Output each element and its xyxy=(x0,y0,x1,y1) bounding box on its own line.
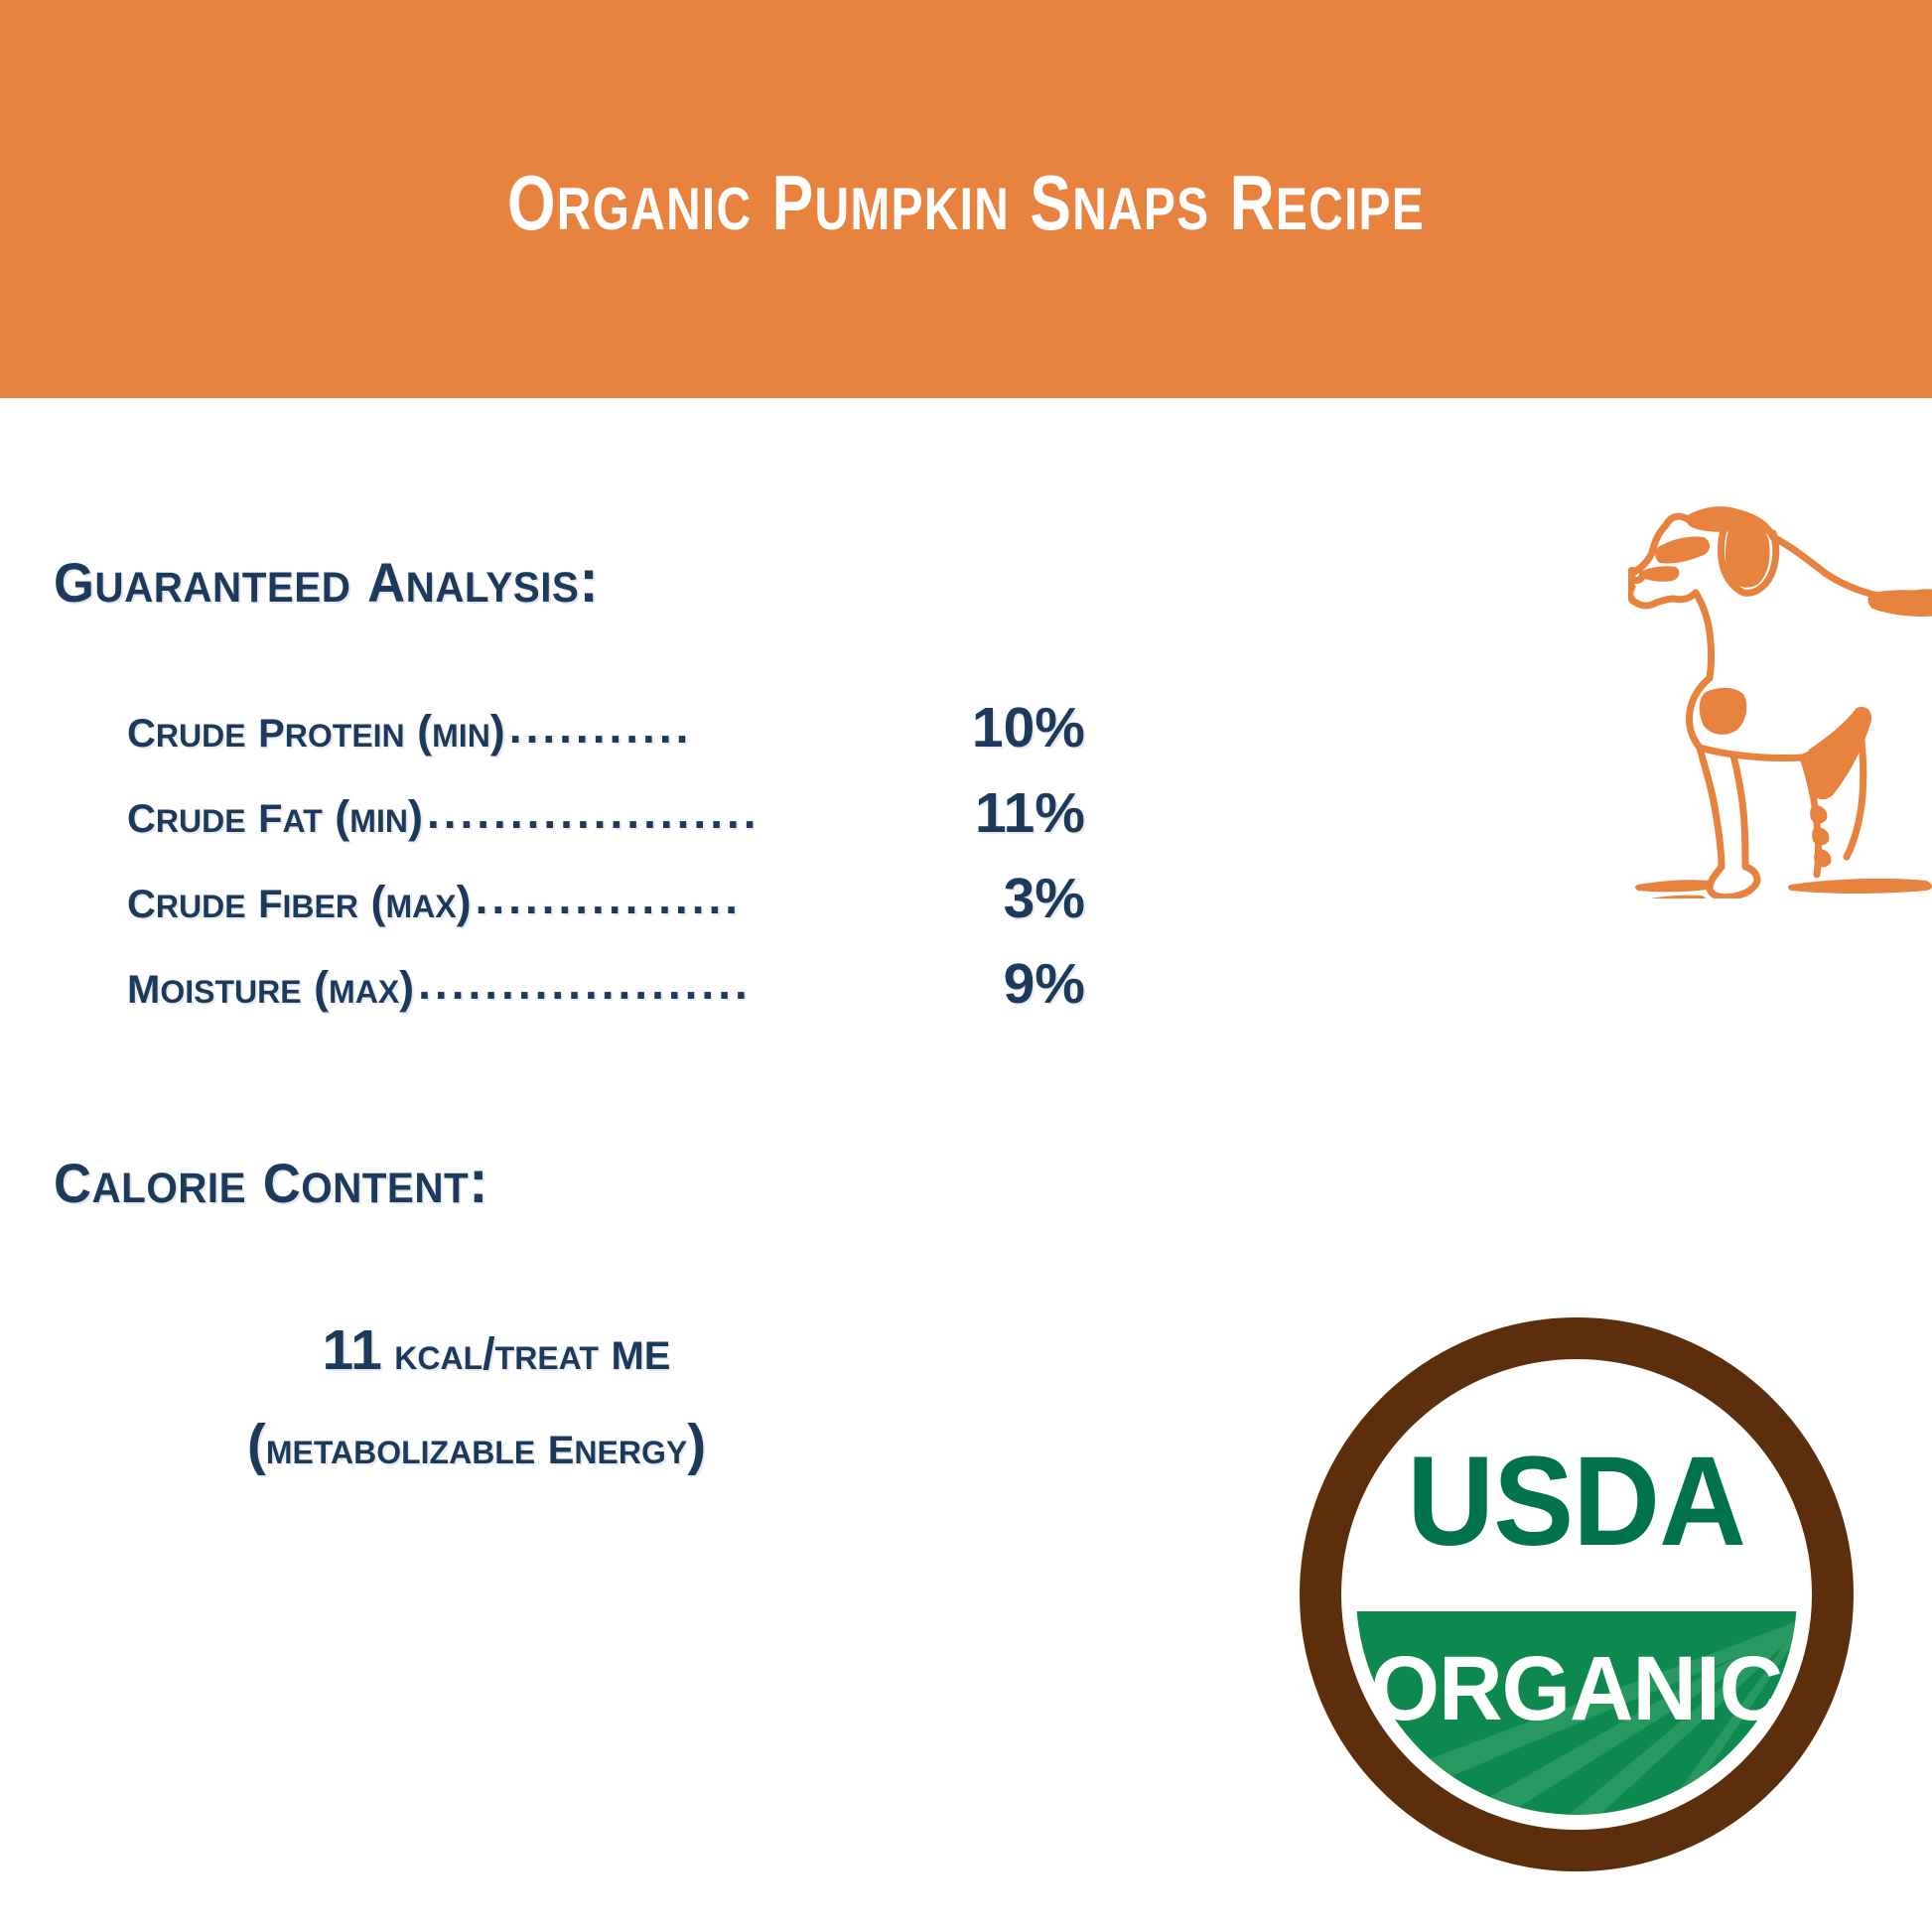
ga-cap-g: G xyxy=(54,530,94,619)
title-word-snaps: naps xyxy=(1072,153,1209,248)
header-band: Organic Pumpkin Snaps Recipe Organic Pum… xyxy=(0,0,1932,398)
product-label-panel: Organic Pumpkin Snaps Recipe Organic Pum… xyxy=(0,0,1932,1932)
title-word-organic: rganic xyxy=(557,153,753,248)
title-cap-o: O xyxy=(507,129,557,253)
ga-heading-rest1: uaranteed xyxy=(94,547,350,616)
energy-cap-e: E xyxy=(548,1413,575,1476)
seal-organic-text: ORGANIC xyxy=(1371,1638,1783,1740)
analysis-label: Crude Protein (min) xyxy=(127,685,505,774)
close-paren: ) xyxy=(687,1413,706,1476)
calorie-number: 11 xyxy=(323,1318,382,1382)
analysis-row-crude-fiber: Crude Fiber (max) ................ 3% Cr… xyxy=(127,856,1085,941)
usda-organic-seal: USDA ORGANIC USDA ORGANIC xyxy=(1287,1304,1866,1885)
cc-heading-rest2: ontent: xyxy=(301,1148,488,1216)
title-cap-p: P xyxy=(772,129,815,253)
calorie-value-line: 11 kcal/treat ME 11 kcal/treat ME xyxy=(79,1315,913,1389)
ga-cap-a: A xyxy=(367,530,405,619)
analysis-label: Crude Fiber (max) xyxy=(127,856,472,945)
calorie-note-energy: nergy xyxy=(574,1423,687,1473)
guaranteed-analysis-list: Crude Protein (min) ........... 10% Crud… xyxy=(127,685,1085,1027)
dotted-leader: ................ xyxy=(476,855,994,940)
title-word-recipe: ecipe xyxy=(1276,153,1425,248)
calorie-content-heading: Calorie Content: Calorie Content: xyxy=(54,1140,488,1218)
calorie-units: kcal/treat ME xyxy=(394,1328,670,1379)
title-cap-r: R xyxy=(1230,129,1276,253)
dotted-leader: .................... xyxy=(427,769,965,855)
dotted-leader: ........... xyxy=(509,684,962,769)
analysis-value: 10% xyxy=(972,685,1085,770)
analysis-row-crude-fat: Crude Fat (min) .................... 11%… xyxy=(127,770,1085,856)
analysis-row-crude-protein: Crude Protein (min) ........... 10% Crud… xyxy=(127,685,1085,770)
open-paren: ( xyxy=(247,1413,266,1476)
dotted-leader: .................... xyxy=(418,940,993,1026)
guaranteed-analysis-heading: Guaranteed Analysis: Guaranteed Analysis… xyxy=(54,539,599,618)
dog-icon xyxy=(1628,422,1932,898)
dog-illustration xyxy=(1628,422,1932,898)
analysis-value: 9% xyxy=(1004,941,1085,1027)
analysis-row-moisture: Moisture (max) .................... 9% M… xyxy=(127,941,1085,1027)
analysis-value: 11% xyxy=(975,770,1085,856)
title-cap-s: S xyxy=(1030,129,1072,253)
page-title: Organic Pumpkin Snaps Recipe Organic Pum… xyxy=(194,142,1739,250)
analysis-label: Crude Fat (min) xyxy=(127,770,423,860)
cc-cap-c1: C xyxy=(54,1131,91,1219)
ga-heading-rest2: nalysis: xyxy=(406,547,600,616)
cc-heading-rest1: alorie xyxy=(91,1148,246,1216)
calorie-note-text: metabolizable xyxy=(266,1423,548,1473)
seal-usda-text: USDA xyxy=(1407,1431,1745,1573)
analysis-label: Moisture (max) xyxy=(127,941,414,1031)
usda-organic-seal-icon: USDA ORGANIC USDA ORGANIC xyxy=(1287,1304,1866,1885)
analysis-value: 3% xyxy=(1004,856,1085,941)
calorie-note-line: (metabolizable Energy) (metabolizable En… xyxy=(40,1410,913,1483)
title-word-pumpkin: umpkin xyxy=(814,153,1010,248)
cc-cap-c2: C xyxy=(263,1131,301,1219)
